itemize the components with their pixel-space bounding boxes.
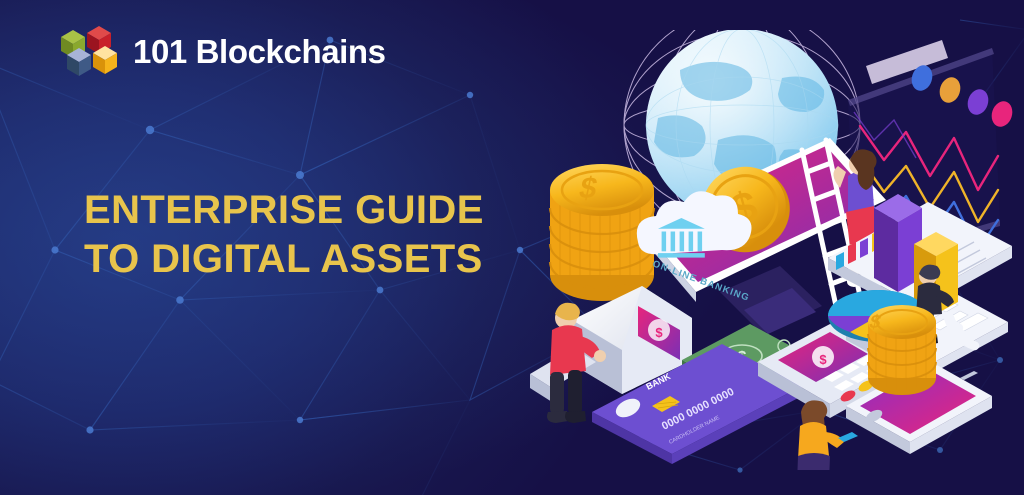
brand-logo[interactable]: 101 Blockchains xyxy=(57,21,386,81)
brand-name: 101 Blockchains xyxy=(133,35,386,68)
headline-line-1: ENTERPRISE GUIDE xyxy=(84,188,484,232)
coin-stack-small: $ xyxy=(867,305,936,395)
promo-banner: 101 Blockchains ENTERPRISE GUIDE TO DIGI… xyxy=(0,0,1024,495)
four-isometric-cubes-logo-icon xyxy=(57,21,119,81)
svg-text:$: $ xyxy=(819,352,827,367)
page-title: ENTERPRISE GUIDE TO DIGITAL ASSETS xyxy=(84,186,484,284)
svg-text:$: $ xyxy=(655,325,663,340)
isometric-digital-finance-illustration: $ xyxy=(530,30,1024,470)
headline-line-2: TO DIGITAL ASSETS xyxy=(84,235,484,284)
